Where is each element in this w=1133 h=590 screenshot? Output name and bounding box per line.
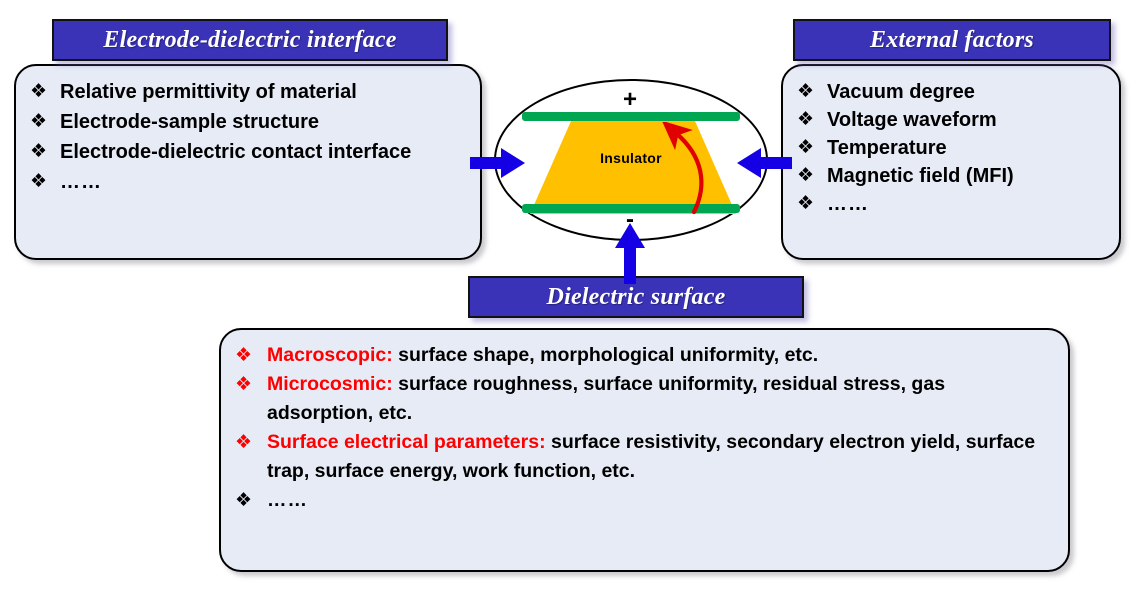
left-block-banner: Electrode-dielectric interface (52, 19, 448, 61)
bullet-icon: ❖ (235, 486, 267, 510)
flashover-curved-arrow (650, 122, 730, 218)
list-item-label: Microcosmic: (267, 373, 393, 395)
list-item: ❖ …… (797, 190, 1111, 218)
list-item: ❖ Voltage waveform (797, 106, 1111, 134)
bullet-icon: ❖ (797, 190, 827, 213)
list-item: ❖ Vacuum degree (797, 78, 1111, 106)
list-item-label: …… (827, 190, 1111, 218)
bullet-icon: ❖ (30, 138, 60, 161)
bullet-icon: ❖ (235, 428, 267, 452)
right-block-banner-label: External factors (870, 27, 1034, 54)
left-block-banner-label: Electrode-dielectric interface (103, 27, 396, 54)
list-item: ❖ Surface electrical parameters: surface… (235, 428, 1056, 486)
list-item-label: Surface electrical parameters: (267, 431, 546, 453)
list-item-label: Macroscopic: (267, 344, 393, 366)
list-item-label: Voltage waveform (827, 106, 1111, 134)
list-item-label: …… (267, 486, 1056, 515)
positive-terminal-label: + (612, 90, 648, 110)
left-block-list: ❖ Relative permittivity of material ❖ El… (16, 66, 480, 196)
list-item-label: Relative permittivity of material (60, 78, 470, 106)
left-block-panel: ❖ Relative permittivity of material ❖ El… (14, 64, 482, 260)
bullet-icon: ❖ (797, 106, 827, 129)
list-item-label: Electrode-dielectric contact interface (60, 138, 452, 166)
list-item: ❖ Macroscopic: surface shape, morphologi… (235, 341, 1056, 370)
arrow-left-to-center (470, 147, 526, 179)
list-item-detail: surface shape, morphological uniformity,… (393, 344, 818, 366)
list-item-label: Electrode-sample structure (60, 108, 470, 136)
bottom-block-list: ❖ Macroscopic: surface shape, morphologi… (221, 330, 1068, 515)
anode-electrode-bar (522, 112, 740, 121)
list-item-text: Surface electrical parameters: surface r… (267, 428, 1056, 486)
list-item-label: Temperature (827, 134, 1111, 162)
list-item: ❖ Magnetic field (MFI) (797, 162, 1111, 190)
list-item: ❖ …… (30, 168, 470, 196)
list-item-text: Microcosmic: surface roughness, surface … (267, 370, 1056, 428)
list-item: ❖ Relative permittivity of material (30, 78, 470, 106)
bullet-icon: ❖ (30, 108, 60, 131)
bullet-icon: ❖ (797, 134, 827, 157)
list-item: ❖ Temperature (797, 134, 1111, 162)
bullet-icon: ❖ (797, 162, 827, 185)
bullet-icon: ❖ (235, 341, 267, 365)
list-item: ❖ Electrode-dielectric contact interface (30, 138, 470, 166)
bottom-block-banner-label: Dielectric surface (547, 284, 726, 311)
list-item-label: Magnetic field (MFI) (827, 162, 1111, 190)
diagram-canvas: Electrode-dielectric interface ❖ Relativ… (0, 0, 1133, 590)
bullet-icon: ❖ (235, 370, 267, 394)
list-item: ❖ Microcosmic: surface roughness, surfac… (235, 370, 1056, 428)
right-block-panel: ❖ Vacuum degree ❖ Voltage waveform ❖ Tem… (781, 64, 1121, 260)
list-item-text: Macroscopic: surface shape, morphologica… (267, 341, 1056, 370)
list-item-label: …… (60, 168, 470, 196)
bottom-block-panel: ❖ Macroscopic: surface shape, morphologi… (219, 328, 1070, 572)
list-item: ❖ Electrode-sample structure (30, 108, 470, 136)
bullet-icon: ❖ (30, 78, 60, 101)
bullet-icon: ❖ (797, 78, 827, 101)
list-item-label: Vacuum degree (827, 78, 1111, 106)
list-item: ❖ …… (235, 486, 1056, 515)
arrow-bottom-to-center (614, 222, 646, 284)
arrow-right-to-center (736, 147, 792, 179)
right-block-banner: External factors (793, 19, 1111, 61)
bullet-icon: ❖ (30, 168, 60, 191)
right-block-list: ❖ Vacuum degree ❖ Voltage waveform ❖ Tem… (783, 66, 1119, 218)
